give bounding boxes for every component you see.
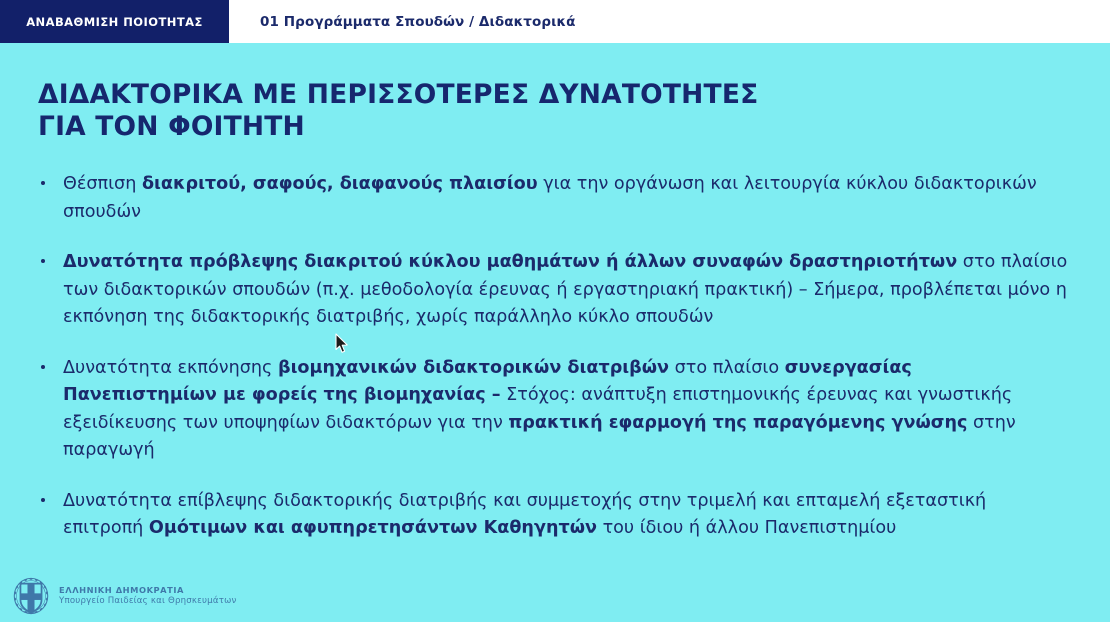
bullet-dot-icon [41, 259, 45, 263]
page-title: ΔΙΔΑΚΤΟΡΙΚΑ ΜΕ ΠΕΡΙΣΣΟΤΕΡΕΣ ΔΥΝΑΤΟΤΗΤΕΣ … [38, 79, 1038, 143]
greek-coat-of-arms-emblem [9, 574, 53, 618]
bullet-dot-icon [41, 365, 45, 369]
slide-header-bar: ΑΝΑΒΑΘΜΙΣΗ ΠΟΙΟΤΗΤΑΣ 01 Προγράμματα Σπου… [0, 0, 1110, 43]
bullet-dot-icon [41, 498, 45, 502]
footer-branding: ΕΛΛΗΝΙΚΗ ΔΗΜΟΚΡΑΤΙΑ Υπουργείο Παιδείας κ… [9, 574, 237, 618]
slide-content-area: ΔΙΔΑΚΤΟΡΙΚΑ ΜΕ ΠΕΡΙΣΣΟΤΕΡΕΣ ΔΥΝΑΤΟΤΗΤΕΣ … [0, 43, 1110, 622]
list-item-text: Θέσπιση διακριτού, σαφούς, διαφανούς πλα… [63, 174, 1037, 222]
list-item-text: Δυνατότητα επίβλεψης διδακτορικής διατρι… [63, 491, 986, 539]
header-secondary-tab-label: 01 Προγράμματα Σπουδών / Διδακτορικά [260, 14, 576, 30]
footer-organization-name: ΕΛΛΗΝΙΚΗ ΔΗΜΟΚΡΑΤΙΑ [59, 585, 237, 596]
header-tab-section-title[interactable]: ΑΝΑΒΑΘΜΙΣΗ ΠΟΙΟΤΗΤΑΣ [0, 0, 229, 43]
list-item: Δυνατότητα επίβλεψης διδακτορικής διατρι… [38, 488, 1070, 543]
list-item-text: Δυνατότητα πρόβλεψης διακριτού κύκλου μα… [63, 252, 1067, 327]
bullet-list: Θέσπιση διακριτού, σαφούς, διαφανούς πλα… [38, 171, 1070, 543]
list-item: Δυνατότητα εκπόνησης βιομηχανικών διδακτ… [38, 355, 1070, 465]
footer-text-block: ΕΛΛΗΝΙΚΗ ΔΗΜΟΚΡΑΤΙΑ Υπουργείο Παιδείας κ… [59, 585, 237, 607]
list-item: Δυνατότητα πρόβλεψης διακριτού κύκλου μα… [38, 249, 1070, 332]
footer-ministry-name: Υπουργείο Παιδείας και Θρησκευμάτων [59, 596, 237, 607]
bullet-dot-icon [41, 181, 45, 185]
page-title-line-2: ΓΙΑ ΤΟΝ ΦΟΙΤΗΤΗ [38, 111, 1038, 143]
header-tab-topic[interactable]: 01 Προγράμματα Σπουδών / Διδακτορικά [229, 0, 1110, 43]
list-item-text: Δυνατότητα εκπόνησης βιομηχανικών διδακτ… [63, 358, 1016, 461]
header-primary-tab-label: ΑΝΑΒΑΘΜΙΣΗ ΠΟΙΟΤΗΤΑΣ [26, 15, 203, 29]
presentation-slide: ΑΝΑΒΑΘΜΙΣΗ ΠΟΙΟΤΗΤΑΣ 01 Προγράμματα Σπου… [0, 0, 1110, 622]
list-item: Θέσπιση διακριτού, σαφούς, διαφανούς πλα… [38, 171, 1070, 226]
page-title-line-1: ΔΙΔΑΚΤΟΡΙΚΑ ΜΕ ΠΕΡΙΣΣΟΤΕΡΕΣ ΔΥΝΑΤΟΤΗΤΕΣ [38, 79, 1038, 111]
